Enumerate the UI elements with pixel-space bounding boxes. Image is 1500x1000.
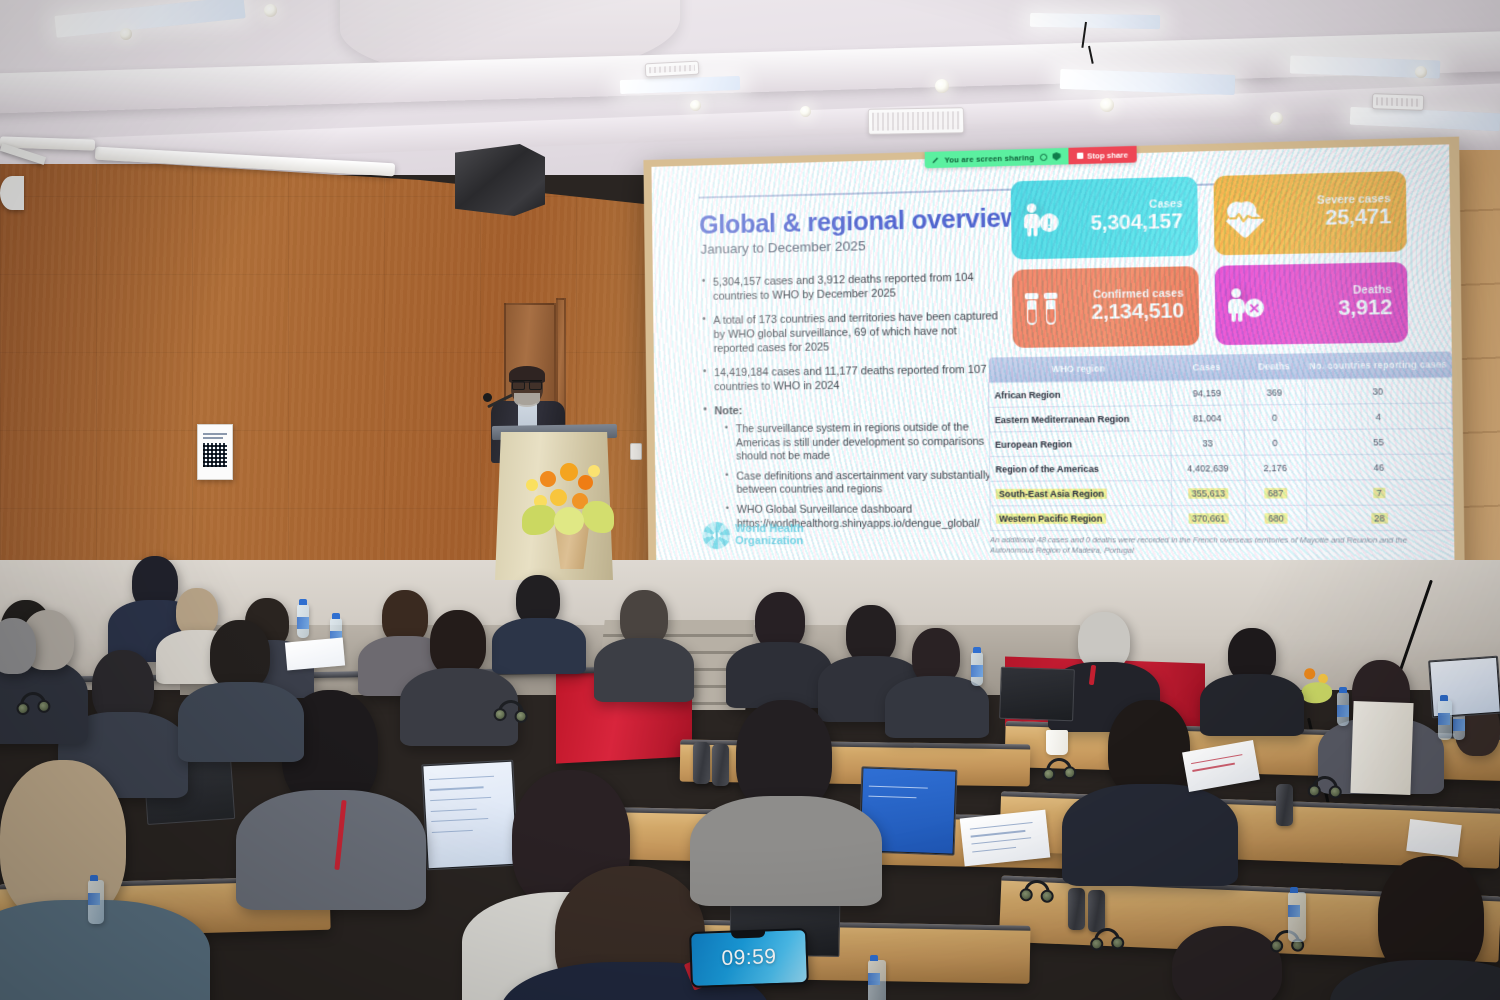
translation-headset[interactable] [15,690,51,715]
ceiling-panel-light [1030,13,1160,29]
table-cell: African Region [989,381,1171,408]
table-cell: 7 [1306,480,1453,506]
ceiling-spot-light [1415,66,1427,78]
slide-bullet-list: 5,304,157 cases and 3,912 deaths reporte… [701,270,1002,537]
person-death-icon: ✕ [1226,285,1268,325]
stat-card-grid: ! Cases 5,304,157 [1011,171,1398,181]
who-logo-line1: World Health [735,524,804,536]
water-bottle [88,880,104,924]
stat-card-deaths: ✕ Deaths 3,912 [1215,262,1408,345]
note-item: Case definitions and ascertainment vary … [725,469,1001,498]
ceiling-spot-light [935,79,949,93]
stat-card-label: Cases [1090,198,1183,212]
flower [550,489,567,506]
table-cell: 0 [1245,430,1306,456]
foliage [1301,682,1332,703]
table-cell: 4,402,639 [1171,455,1245,480]
bullet-item: 14,419,184 cases and 11,177 deaths repor… [702,362,1000,395]
projection-screen: Global & regional overview January to De… [651,144,1454,579]
stat-card-label: Deaths [1338,284,1392,297]
audience-shoulders [236,790,426,910]
record-circle-icon[interactable] [1039,153,1046,160]
smartphone[interactable]: 09:59 [689,928,809,988]
wall-socket-plate [630,443,642,460]
flower [578,475,593,490]
conference-hall-photo: Global & regional overview January to De… [0,0,1500,1000]
translation-headset[interactable] [1019,879,1054,903]
table-cell: 680 [1245,505,1306,530]
slide-title: Global & regional overview [699,204,1021,241]
bullet-note-label: Note: [702,401,1000,418]
printed-document [285,638,345,671]
laptop[interactable] [421,760,518,871]
audience-shoulders [178,682,304,762]
audience-shoulders [1062,784,1238,886]
qr-code-graphic [203,443,226,467]
printed-document [960,810,1051,867]
flower [560,463,578,481]
water-bottle [1288,892,1306,942]
phone-clock: 09:59 [721,945,777,971]
flower [588,465,600,477]
audience-head [176,588,218,636]
who-region-table: WHO region Cases Deaths No. countries re… [988,351,1454,531]
document-line [970,830,1025,837]
table-cell: Region of the Americas [989,456,1171,482]
pencil-icon [932,156,939,163]
pulse-line-icon [1229,211,1262,222]
document-line [969,822,1032,830]
table-footnote: An additional 48 cases and 0 deaths were… [990,535,1446,556]
seat-folding-clip[interactable] [693,742,710,784]
stat-card-confirmed-cases: Confirmed cases 2,134,510 [1012,266,1200,348]
poster-text-line [203,433,227,435]
paper-cup [1046,730,1068,755]
presenter-glasses [512,380,542,388]
audience-head [0,618,36,674]
table-cell: 0 [1244,404,1305,430]
table-cell: 369 [1244,379,1305,405]
ceiling-spot-light [800,106,811,117]
document-line [1192,763,1235,772]
water-bottle [1438,700,1452,740]
qr-code-poster [197,424,233,480]
table-cell: 46 [1306,454,1453,480]
water-bottle [868,960,886,1000]
audience-head [1172,926,1282,1000]
table-header-cell: No. countries reporting cases [1304,351,1451,379]
ceiling-spot-light [1100,98,1114,112]
ceiling-air-vent [868,107,964,135]
stat-card-severe-cases: Severe cases 25,471 [1213,171,1406,255]
flower-arrangement [520,445,625,555]
who-logo-text: World Health Organization [735,524,804,548]
audience-head [210,620,270,690]
table-header-cell: Deaths [1244,353,1305,379]
seat-folding-clip[interactable] [1276,784,1293,826]
table-cell: 28 [1306,505,1453,531]
document-line [971,837,1031,845]
table-cell: European Region [989,431,1171,457]
audience-head [0,760,126,922]
x-badge-icon: ✕ [1244,298,1264,317]
water-bottle [297,604,309,638]
stop-share-label: Stop share [1087,150,1128,160]
screen-sharing-label: You are screen sharing [944,152,1034,164]
audience-shoulders [594,638,694,702]
table-cell: 81,004 [1170,405,1244,431]
table-header-cell: WHO region [988,355,1170,383]
ceiling-air-vent [645,61,700,78]
table-cell: 4 [1305,403,1452,430]
table-cell: 33 [1171,430,1245,456]
table-row: European Region33055 [989,429,1452,457]
audience-shoulders [1200,674,1304,736]
presenter-beard [514,393,540,407]
exclamation-badge-icon: ! [1040,213,1059,232]
foliage [554,507,584,535]
flower [526,479,538,491]
stat-card-value: 3,912 [1338,296,1392,321]
table-row: Region of the Americas4,402,6392,17646 [989,454,1452,481]
slide-subtitle: January to December 2025 [700,238,866,257]
audience-shoulders [492,618,586,674]
stat-card-value: 2,134,510 [1091,300,1184,325]
poster-text-line [203,437,223,439]
audience-head [846,605,896,663]
table-row: Eastern Mediterranean Region81,00404 [989,403,1452,432]
audience-shoulders [726,642,832,708]
bullet-item: A total of 173 countries and territories… [701,309,999,357]
table-row: Western Pacific Region370,66168028 [990,505,1453,531]
shield-icon[interactable] [1052,152,1061,160]
stat-card-value: 25,471 [1317,206,1391,232]
audience-shoulders [690,796,882,906]
ceiling-air-vent [1372,93,1425,111]
seat-folding-clip[interactable] [712,744,729,786]
presentation-slide: Global & regional overview January to De… [651,144,1454,579]
document-line [972,846,1017,852]
translation-headset[interactable] [1307,775,1342,799]
audience-shoulders [1330,960,1500,1000]
table-cell: 355,613 [1171,480,1245,505]
note-item: The surveillance system in regions outsi… [725,421,1001,464]
ceiling-spot-light [120,28,132,40]
water-bottle [1337,692,1349,726]
person-alert-icon: ! [1021,200,1062,240]
translation-headset[interactable] [493,699,529,724]
table-cell: 687 [1245,480,1306,505]
phone-notch [731,930,765,938]
wall-loudspeaker [455,144,545,216]
table-cell: 370,661 [1172,505,1246,530]
flower [1304,668,1315,679]
who-logo: World Health Organization [703,522,804,549]
heart-pulse-icon [1225,195,1267,236]
stat-card-label: Confirmed cases [1091,288,1184,302]
projector-mount-arm [0,176,24,210]
ceiling-spot-light [1270,112,1283,125]
audience-shoulders [0,900,210,1000]
stop-share-button[interactable]: Stop share [1068,146,1137,164]
table-cell: 2,176 [1245,455,1306,480]
table-cell: 94,159 [1170,380,1244,406]
bullet-item: 5,304,157 cases and 3,912 deaths reporte… [701,270,999,305]
ceiling-spot-light [690,100,701,111]
table-cell: 55 [1305,429,1452,455]
paper-shopping-bag [1350,701,1413,795]
table-cell: 30 [1305,378,1452,405]
table-cell: South-East Asia Region [990,481,1172,506]
ceiling-spot-light [264,4,277,17]
stat-card-value: 5,304,157 [1090,210,1183,236]
laptop[interactable] [999,667,1075,722]
flower [540,471,556,487]
table-cell: Eastern Mediterranean Region [989,406,1171,432]
note-sublist: The surveillance system in regions outsi… [725,421,1002,531]
table-row: South-East Asia Region355,6136877 [990,480,1453,506]
printed-document [1406,819,1462,857]
audience-head [430,610,486,676]
seat-folding-clip[interactable] [1088,890,1105,932]
test-tubes-icon [1023,288,1064,328]
audience-bench [680,740,1031,787]
who-emblem-icon [703,522,730,549]
projection-screen-frame: Global & regional overview January to De… [643,137,1465,588]
translation-headset[interactable] [1089,927,1124,951]
translation-headset[interactable] [1041,757,1076,781]
table-body: African Region94,15936930Eastern Mediter… [989,378,1454,531]
seat-folding-clip[interactable] [1068,888,1085,930]
table-header-cell: Cases [1170,354,1244,380]
water-bottle [971,652,983,686]
stat-card-label: Severe cases [1317,193,1391,207]
table-cell: Western Pacific Region [990,506,1172,531]
stop-square-icon [1076,153,1082,159]
foliage [522,505,556,535]
who-logo-line2: Organization [735,536,804,548]
stat-card-cases: ! Cases 5,304,157 [1011,176,1199,259]
